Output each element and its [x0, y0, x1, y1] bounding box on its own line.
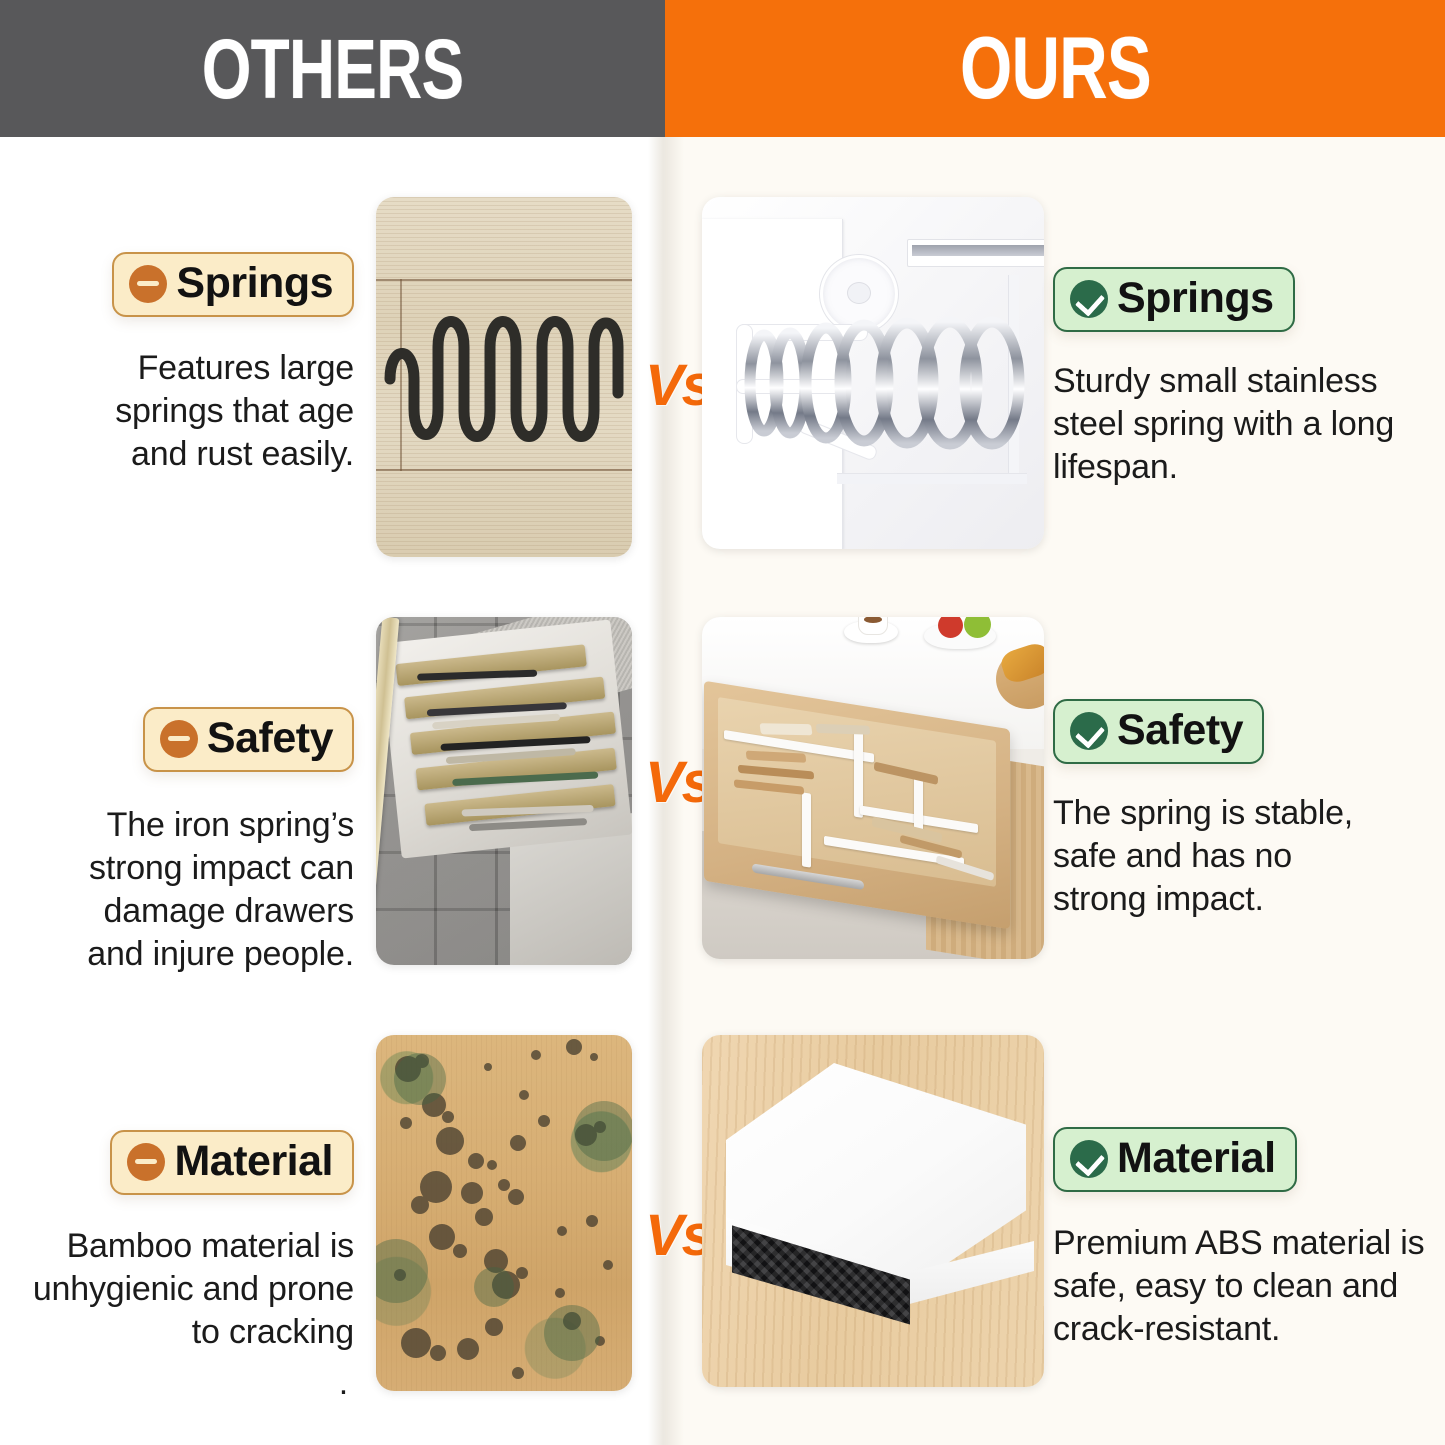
safety-positive-badge-label: Safety [1117, 708, 1243, 753]
safety-positive-description: The spring is stable, safe and has no st… [1053, 792, 1373, 921]
springs-negative-badge: Springs [112, 252, 354, 317]
row-safety: Safety The iron spring’s strong impact c… [0, 587, 1445, 1027]
material-positive-image [702, 1035, 1044, 1387]
row-material: Material Bamboo material is unhygienic a… [0, 1027, 1445, 1445]
mold-spots-illustration [376, 1035, 632, 1391]
material-positive-description: Premium ABS material is safe, easy to cl… [1053, 1222, 1433, 1351]
safety-positive-image [702, 617, 1044, 959]
material-negative-description: Bamboo material is unhygienic and prone … [24, 1225, 354, 1354]
check-circle-icon [1070, 280, 1108, 318]
material-positive-badge: Material [1053, 1127, 1297, 1192]
header: OTHERS OURS [0, 0, 1445, 137]
springs-negative-image [376, 197, 632, 557]
minus-circle-icon [127, 1143, 165, 1181]
header-ours: OURS [665, 0, 1445, 137]
safety-negative-description: The iron spring’s strong impact can dama… [54, 804, 354, 976]
header-ours-title: OURS [959, 26, 1150, 110]
check-circle-icon [1070, 712, 1108, 750]
minus-circle-icon [160, 720, 198, 758]
safety-positive-badge: Safety [1053, 699, 1264, 764]
coil-spring-illustration [702, 197, 1044, 549]
material-negative-badge-label: Material [174, 1139, 333, 1184]
material-negative-description-period: . [339, 1362, 354, 1405]
springs-negative-badge-label: Springs [176, 261, 333, 306]
fallen-drawer [379, 619, 632, 858]
springs-negative-description: Features large springs that age and rust… [64, 347, 354, 476]
safety-right-text-column: Safety The spring is stable, safe and ha… [1053, 587, 1445, 921]
springs-positive-badge: Springs [1053, 267, 1295, 332]
springs-left-text-column: Springs Features large springs that age … [0, 137, 372, 476]
material-right-text-column: Material Premium ABS material is safe, e… [1053, 1027, 1445, 1351]
zigzag-spring-illustration [376, 197, 632, 557]
safety-negative-image [376, 617, 632, 965]
material-positive-badge-label: Material [1117, 1136, 1276, 1181]
minus-circle-icon [129, 265, 167, 303]
comparison-infographic: OTHERS OURS Springs Features large sprin… [0, 0, 1445, 1445]
safety-left-text-column: Safety The iron spring’s strong impact c… [0, 587, 372, 976]
header-others-title: OTHERS [202, 26, 464, 110]
springs-positive-image [702, 197, 1044, 549]
material-negative-badge: Material [110, 1130, 354, 1195]
springs-positive-description: Sturdy small stainless steel spring with… [1053, 360, 1413, 489]
material-left-text-column: Material Bamboo material is unhygienic a… [0, 1027, 372, 1405]
safety-negative-badge: Safety [143, 707, 354, 772]
safety-negative-badge-label: Safety [207, 716, 333, 761]
springs-positive-badge-label: Springs [1117, 276, 1274, 321]
check-circle-icon [1070, 1140, 1108, 1178]
row-springs: Springs Features large springs that age … [0, 137, 1445, 587]
springs-right-text-column: Springs Sturdy small stainless steel spr… [1053, 137, 1445, 489]
material-negative-image [376, 1035, 632, 1391]
header-others: OTHERS [0, 0, 665, 137]
